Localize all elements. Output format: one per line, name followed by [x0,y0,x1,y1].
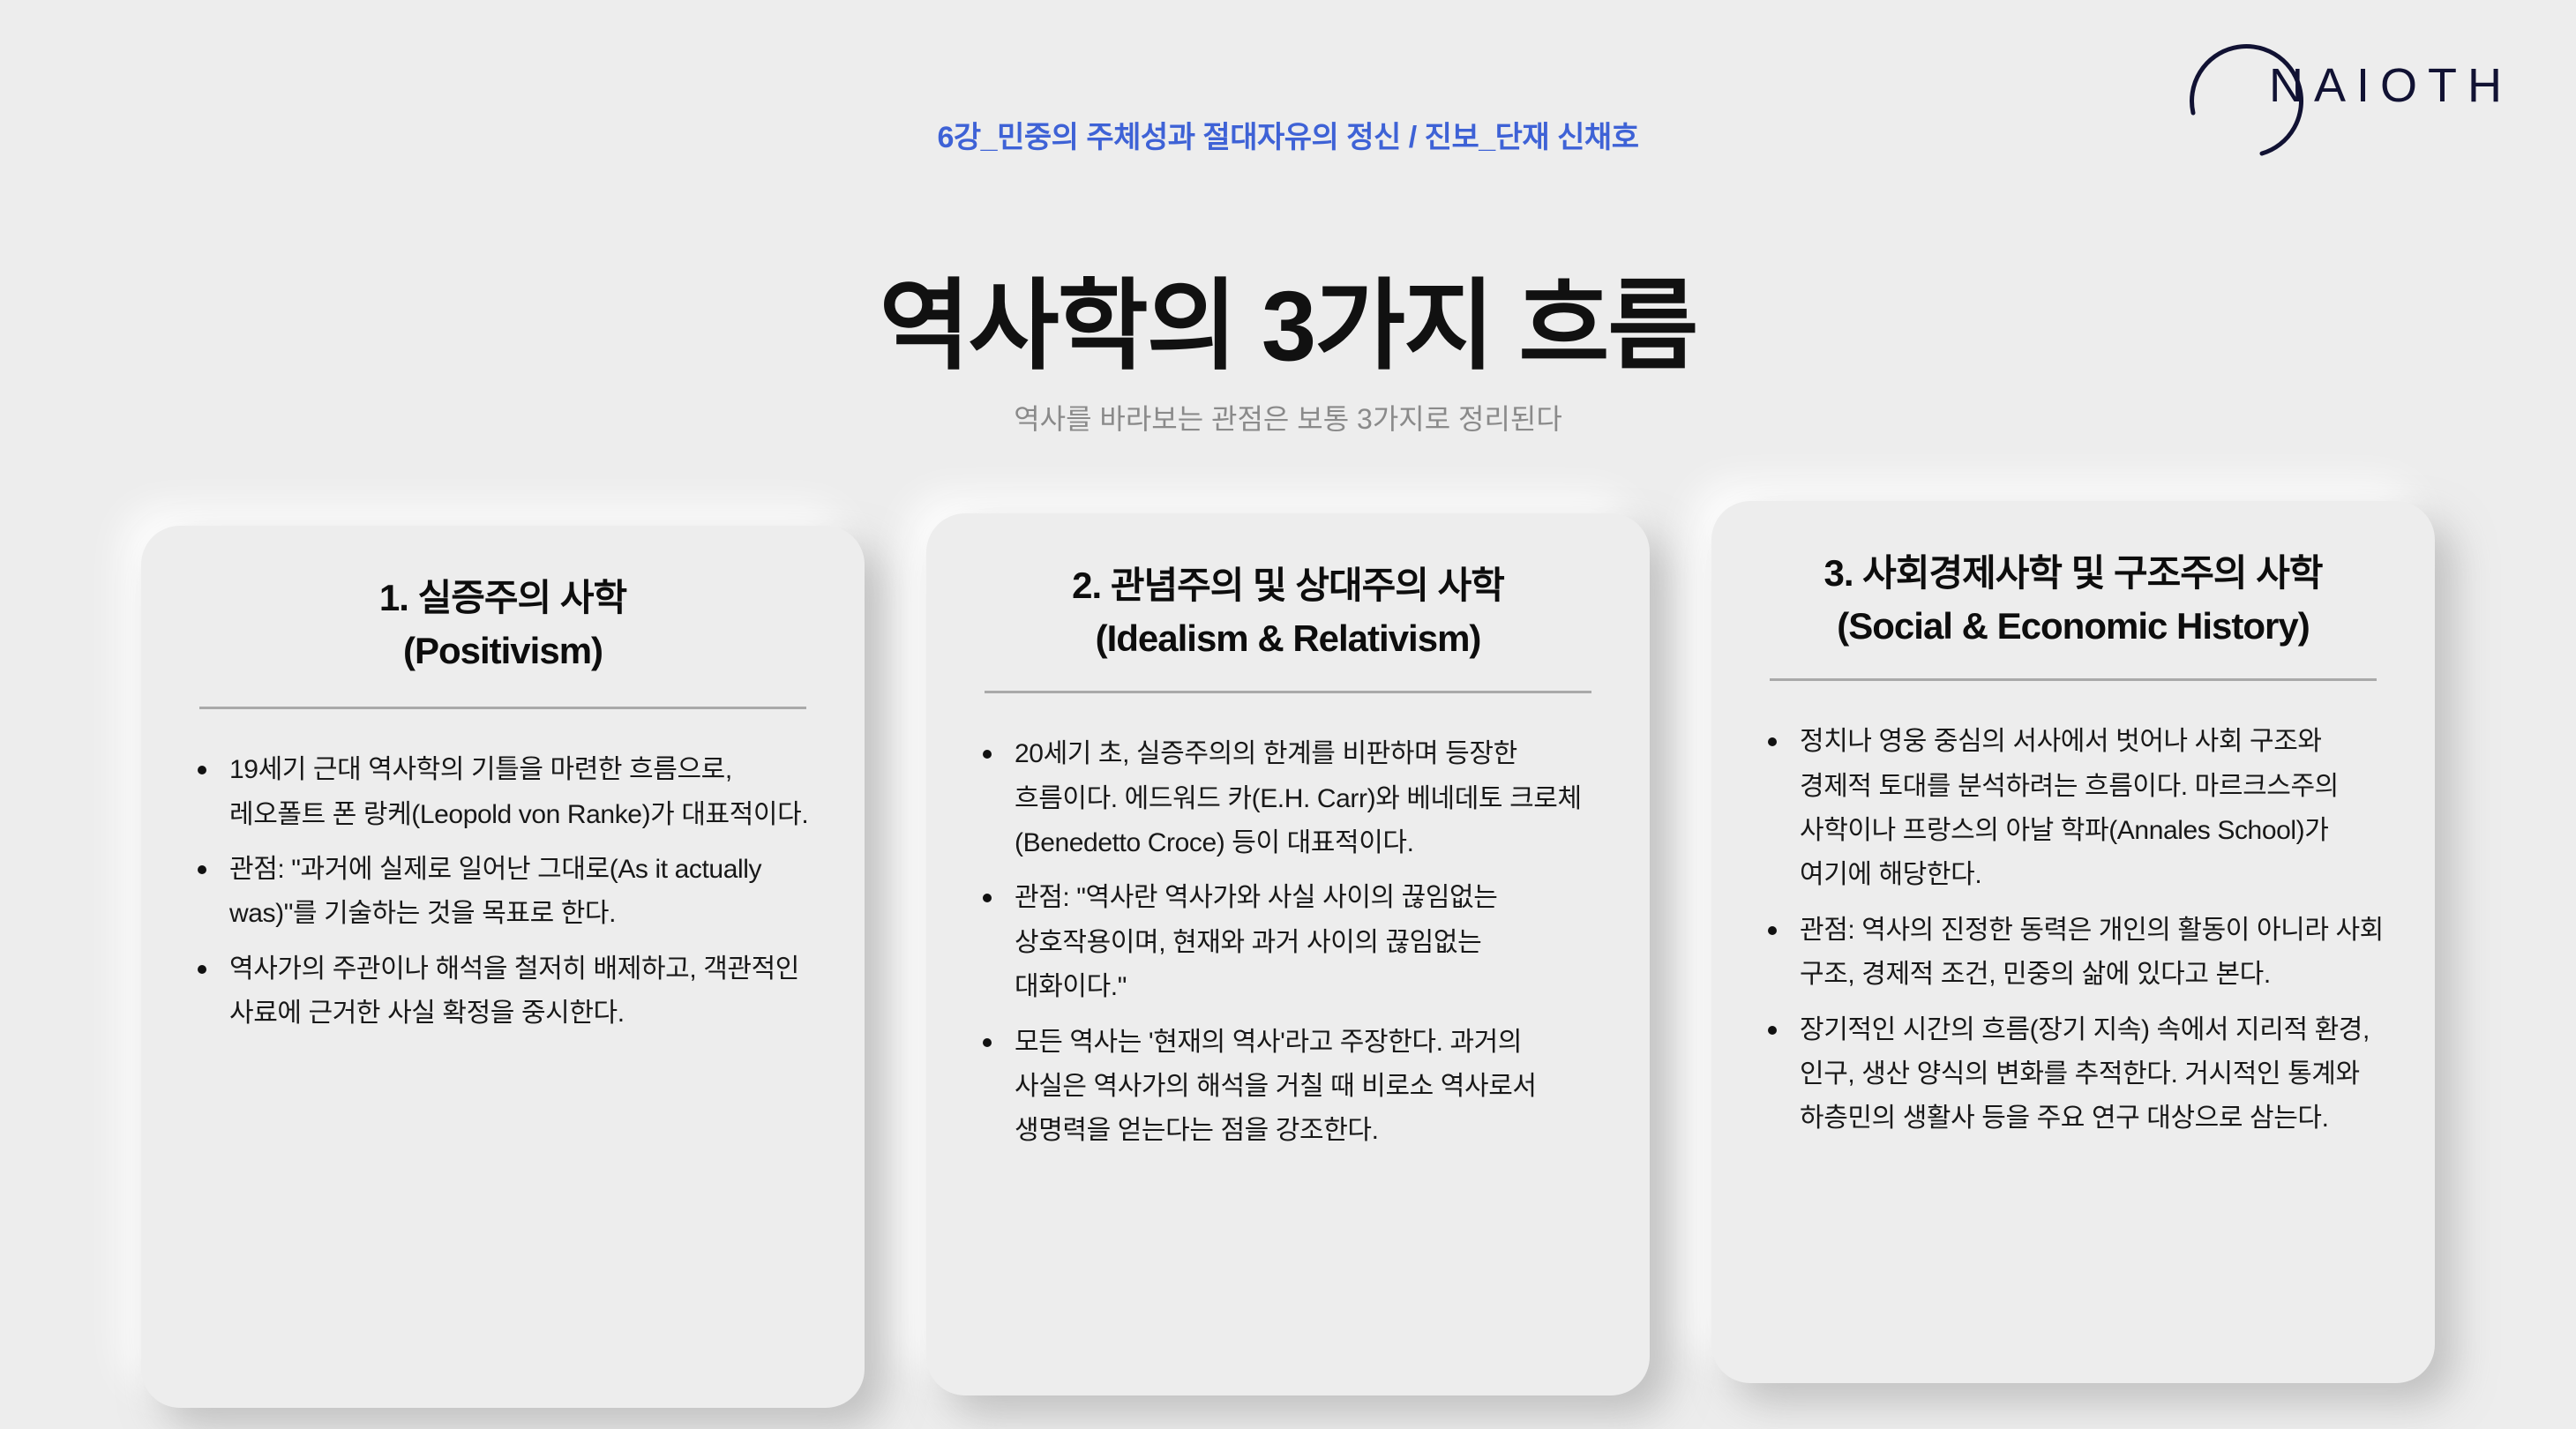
card-divider [985,691,1591,693]
brand-name: NAIOTH [2269,58,2512,113]
card-divider [199,707,806,709]
lecture-eyebrow: 6강_민중의 주체성과 절대자유의 정신 / 진보_단재 신채호 [0,113,2576,156]
list-item: 역사가의 주관이나 해석을 철저히 배제하고, 객관적인 사료에 근거한 사실 … [192,947,813,1036]
card-title-line1: 2. 관념주의 및 상대주의 사학 [981,559,1595,612]
card-title: 2. 관념주의 및 상대주의 사학 (Idealism & Relativism… [977,559,1599,664]
list-item: 정치나 영웅 중심의 서사에서 벗어나 사회 구조와 경제적 토대를 분석하려는… [1763,720,2384,898]
concept-card-idealism-relativism: 2. 관념주의 및 상대주의 사학 (Idealism & Relativism… [926,513,1650,1395]
list-item: 모든 역사는 '현재의 역사'라고 주장한다. 과거의 사실은 역사가의 해석을… [977,1021,1599,1154]
list-item: 19세기 근대 역사학의 기틀을 마련한 흐름으로, 레오폴트 폰 랑케(Leo… [192,748,813,837]
card-title: 3. 사회경제사학 및 구조주의 사학 (Social & Economic H… [1763,547,2384,652]
card-title-line1: 3. 사회경제사학 및 구조주의 사학 [1766,547,2380,600]
concept-card-social-economic-history: 3. 사회경제사학 및 구조주의 사학 (Social & Economic H… [1711,501,2435,1383]
list-item: 관점: 역사의 진정한 동력은 개인의 활동이 아니라 사회 구조, 경제적 조… [1763,909,2384,998]
card-bullet-list: 19세기 근대 역사학의 기틀을 마련한 흐름으로, 레오폴트 폰 랑케(Leo… [192,748,813,1036]
list-item: 장기적인 시간의 흐름(장기 지속) 속에서 지리적 환경, 인구, 생산 양식… [1763,1008,2384,1141]
card-grid: 1. 실증주의 사학 (Positivism) 19세기 근대 역사학의 기틀을… [141,494,2435,1385]
page-subtitle: 역사를 바라보는 관점은 보통 3가지로 정리된다 [0,397,2576,438]
card-divider [1770,678,2377,681]
page-title: 역사학의 3가지 흐름 [0,267,2576,385]
card-title-line2: (Idealism & Relativism) [981,612,1595,665]
card-title-line2: (Positivism) [196,625,810,677]
card-title: 1. 실증주의 사학 (Positivism) [192,572,813,677]
list-item: 20세기 초, 실증주의의 한계를 비판하며 등장한 흐름이다. 에드워드 카(… [977,732,1599,865]
card-bullet-list: 정치나 영웅 중심의 서사에서 벗어나 사회 구조와 경제적 토대를 분석하려는… [1763,720,2384,1141]
list-item: 관점: "역사란 역사가와 사실 사이의 끊임없는 상호작용이며, 현재와 과거… [977,876,1599,1009]
card-title-line1: 1. 실증주의 사학 [196,572,810,625]
concept-card-positivism: 1. 실증주의 사학 (Positivism) 19세기 근대 역사학의 기틀을… [141,526,865,1408]
card-title-line2: (Social & Economic History) [1766,600,2380,653]
slide-root: NAIOTH 6강_민중의 주체성과 절대자유의 정신 / 진보_단재 신채호 … [0,0,2576,1429]
list-item: 관점: "과거에 실제로 일어난 그대로(As it actually was)… [192,848,813,937]
card-bullet-list: 20세기 초, 실증주의의 한계를 비판하며 등장한 흐름이다. 에드워드 카(… [977,732,1599,1154]
